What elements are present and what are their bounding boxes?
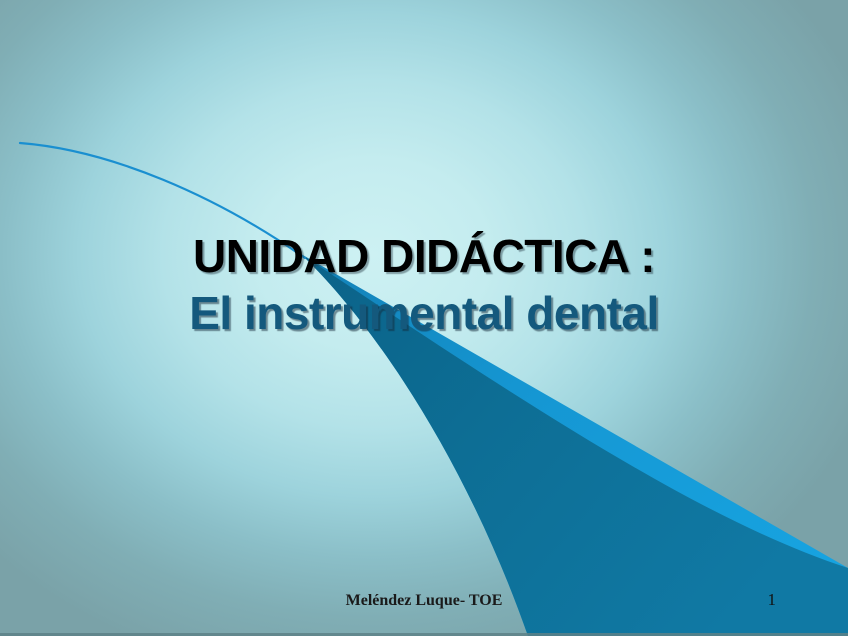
page-title-line1: UNIDAD DIDÁCTICA : <box>0 228 848 284</box>
footer-author-text: Meléndez Luque- TOE <box>0 592 848 610</box>
title-block: UNIDAD DIDÁCTICA : El instrumental denta… <box>0 228 848 342</box>
presentation-slide: UNIDAD DIDÁCTICA : El instrumental denta… <box>0 0 848 636</box>
slide-page-number: 1 <box>768 590 777 610</box>
page-title-line2: El instrumental dental <box>0 284 848 342</box>
